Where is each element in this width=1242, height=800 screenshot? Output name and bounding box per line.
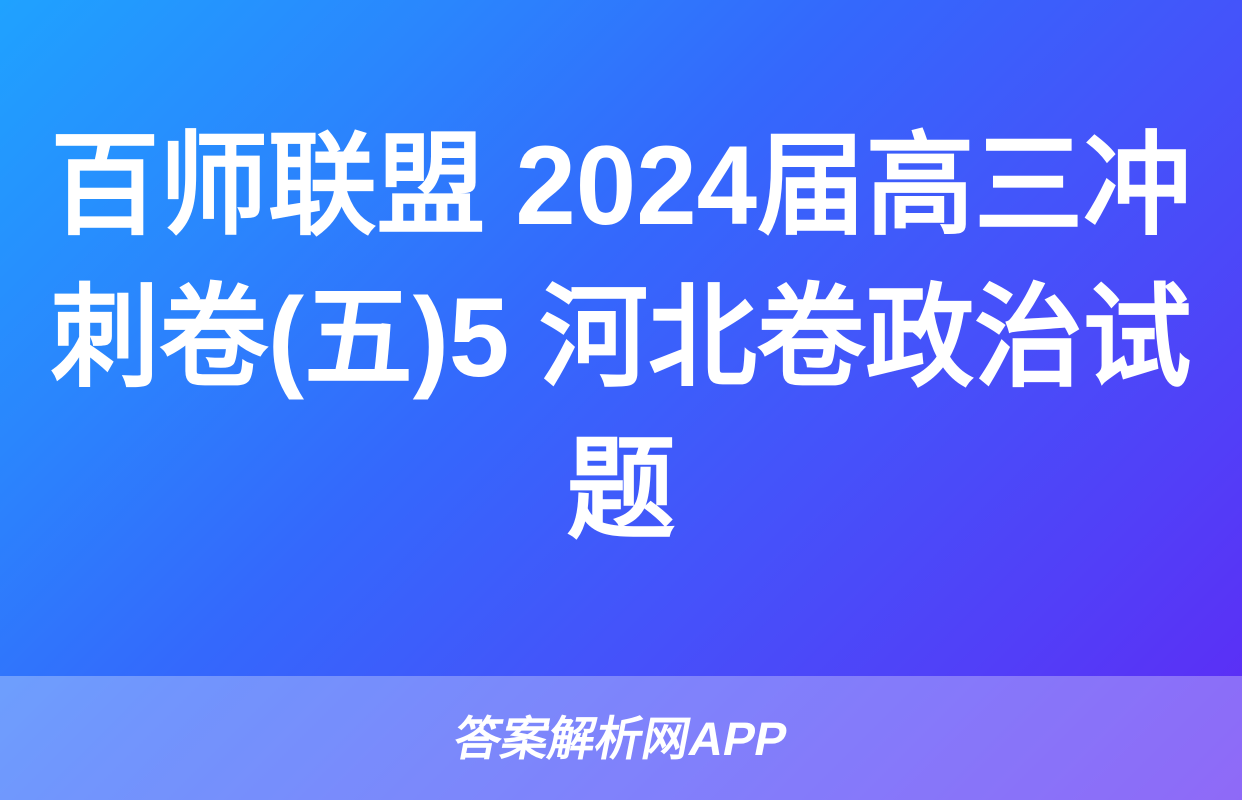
app-watermark-label: 答案解析网APP [451,715,792,762]
title-block: 百师联盟 2024届高三冲 刺卷(五)5 河北卷政治试 题 [0,0,1242,676]
title-line-3: 题 [567,414,676,566]
footer-watermark-band: 答案解析网APP [0,676,1242,800]
exam-cover-card: 百师联盟 2024届高三冲 刺卷(五)5 河北卷政治试 题 答案解析网APP [0,0,1242,800]
title-line-2: 刺卷(五)5 河北卷政治试 [51,262,1192,414]
title-line-1: 百师联盟 2024届高三冲 [51,110,1192,262]
